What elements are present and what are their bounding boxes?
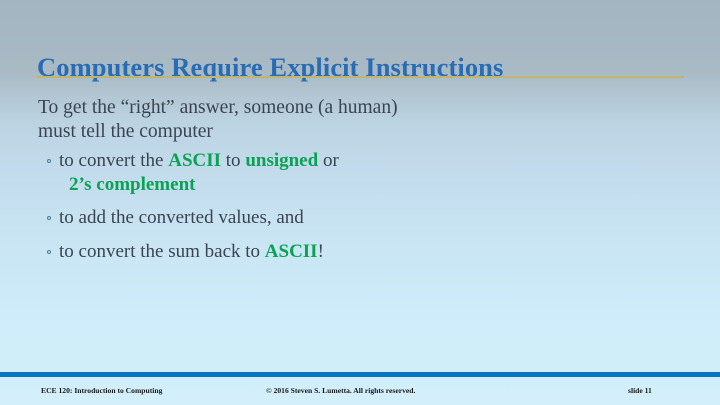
bullet-text: to convert the ASCII to unsigned or: [59, 149, 678, 173]
bullet-text: to convert the sum back to ASCII!: [59, 240, 678, 264]
footer: ECE 120: Introduction to Computing © 201…: [0, 381, 720, 405]
bullet-text: to add the converted values, and: [59, 206, 678, 230]
footer-course-label: ECE 120: Introduction to Computing: [41, 386, 162, 395]
list-item: to convert the ASCII to unsigned or 2’s …: [38, 149, 678, 196]
bullet-circle-icon: [47, 250, 51, 254]
bullet-circle-icon: [47, 159, 51, 163]
page-title: Computers Require Explicit Instructions: [37, 50, 687, 84]
lead-line-2: must tell the computer: [38, 120, 678, 144]
footer-copyright-label: © 2016 Steven S. Lumetta. All rights res…: [266, 386, 415, 395]
bullet-3-pre: to convert the sum back to: [59, 241, 265, 262]
list-item: to convert the sum back to ASCII!: [38, 240, 678, 264]
bullet-1-pre: to convert the: [59, 150, 168, 171]
keyword-ascii: ASCII: [168, 150, 221, 171]
keyword-twos-complement: 2’s complement: [59, 173, 678, 197]
lead-paragraph: To get the “right” answer, someone (a hu…: [38, 96, 678, 143]
bullet-circle-icon: [47, 216, 51, 220]
keyword-ascii: ASCII: [265, 241, 318, 262]
bullet-list: to convert the ASCII to unsigned or 2’s …: [38, 149, 678, 263]
footer-slide-number: slide 11: [628, 386, 652, 395]
list-item: to add the converted values, and: [38, 206, 678, 230]
bullet-3-post: !: [318, 241, 324, 262]
keyword-unsigned: unsigned: [245, 150, 318, 171]
bullet-1-mid: to: [221, 150, 245, 171]
title-divider: [36, 76, 684, 78]
bullet-1-post: or: [318, 150, 339, 171]
slide-body: To get the “right” answer, someone (a hu…: [38, 96, 678, 263]
lead-line-1: To get the “right” answer, someone (a hu…: [38, 97, 398, 118]
footer-divider-bar: [0, 372, 720, 377]
slide-canvas: Computers Require Explicit Instructions …: [0, 0, 720, 405]
